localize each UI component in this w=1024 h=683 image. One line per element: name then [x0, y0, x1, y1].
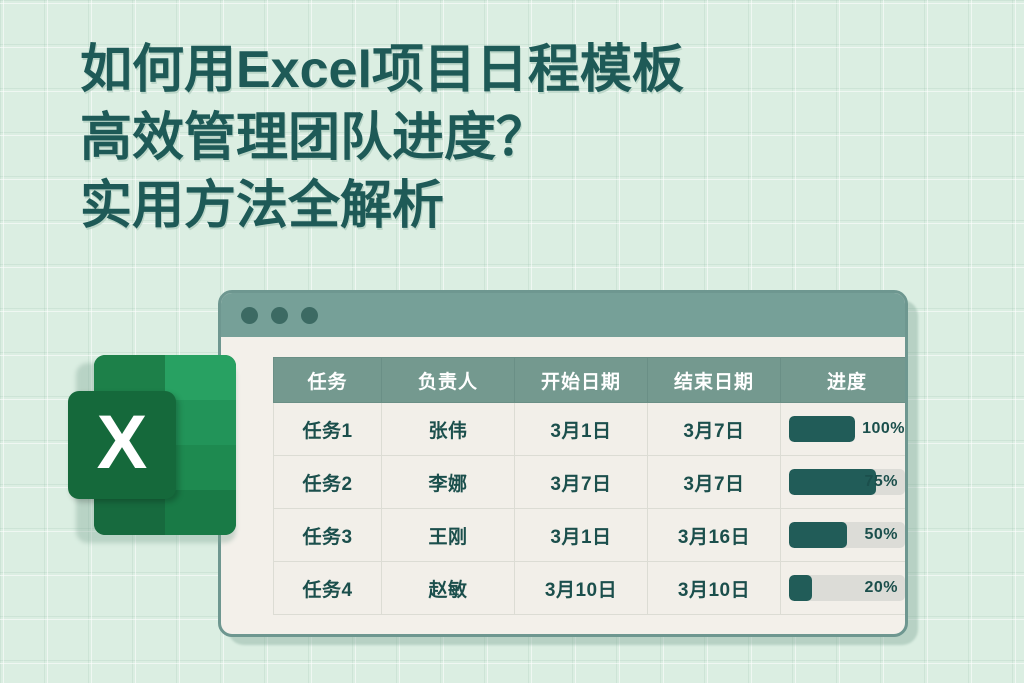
progress-track: 50% — [789, 522, 905, 548]
table-row[interactable]: 任务2李娜3月7日3月7日75% — [274, 456, 909, 509]
cell-start-date: 3月10日 — [515, 562, 648, 615]
window-minimize-dot-icon[interactable] — [271, 307, 288, 324]
excel-logo-tile-2 — [165, 355, 236, 400]
window-close-dot-icon[interactable] — [241, 307, 258, 324]
table-header-row: 任务 负责人 开始日期 结束日期 进度 — [274, 358, 909, 403]
page-title: 如何用Excel项目日程模板 高效管理团队进度？ 实用方法全解析 — [80, 36, 940, 240]
cell-end-date: 3月16日 — [648, 509, 781, 562]
window-body: 任务 负责人 开始日期 结束日期 进度 任务1张伟3月1日3月7日100%任务2… — [221, 337, 905, 635]
headline-line-3: 实用方法全解析 — [80, 172, 940, 240]
excel-logo-tile-8 — [165, 490, 236, 535]
progress-track: 75% — [789, 469, 905, 495]
table-body: 任务1张伟3月1日3月7日100%任务2李娜3月7日3月7日75%任务3王刚3月… — [274, 403, 909, 615]
progress-fill — [789, 416, 855, 442]
cell-start-date: 3月7日 — [515, 456, 648, 509]
excel-logo-letter: X — [97, 405, 148, 481]
progress-track: 20% — [789, 575, 905, 601]
cell-progress: 20% — [781, 562, 909, 615]
progress-bar: 75% — [789, 469, 905, 495]
browser-window-card: 任务 负责人 开始日期 结束日期 进度 任务1张伟3月1日3月7日100%任务2… — [218, 290, 908, 637]
column-header-owner[interactable]: 负责人 — [382, 358, 515, 403]
cell-task: 任务4 — [274, 562, 382, 615]
cell-owner: 王刚 — [382, 509, 515, 562]
progress-label: 50% — [864, 522, 898, 548]
window-title-bar — [221, 293, 905, 337]
cell-owner: 赵敏 — [382, 562, 515, 615]
progress-bar: 20% — [789, 575, 905, 601]
column-header-progress[interactable]: 进度 — [781, 358, 909, 403]
cell-start-date: 3月1日 — [515, 509, 648, 562]
progress-label: 100% — [862, 420, 905, 438]
cell-end-date: 3月10日 — [648, 562, 781, 615]
progress-fill — [789, 469, 876, 495]
window-maximize-dot-icon[interactable] — [301, 307, 318, 324]
column-header-start-date[interactable]: 开始日期 — [515, 358, 648, 403]
headline-line-2: 高效管理团队进度？ — [80, 104, 940, 172]
table-row[interactable]: 任务4赵敏3月10日3月10日20% — [274, 562, 909, 615]
table-row[interactable]: 任务1张伟3月1日3月7日100% — [274, 403, 909, 456]
cell-progress: 100% — [781, 403, 909, 456]
progress-track — [789, 416, 855, 442]
progress-label: 75% — [864, 469, 898, 495]
table-row[interactable]: 任务3王刚3月1日3月16日50% — [274, 509, 909, 562]
cell-owner: 李娜 — [382, 456, 515, 509]
cell-start-date: 3月1日 — [515, 403, 648, 456]
column-header-end-date[interactable]: 结束日期 — [648, 358, 781, 403]
cell-progress: 50% — [781, 509, 909, 562]
cell-progress: 75% — [781, 456, 909, 509]
progress-bar: 100% — [789, 416, 905, 442]
progress-label: 20% — [864, 575, 898, 601]
cell-task: 任务2 — [274, 456, 382, 509]
cell-task: 任务3 — [274, 509, 382, 562]
cell-owner: 张伟 — [382, 403, 515, 456]
cell-task: 任务1 — [274, 403, 382, 456]
progress-fill — [789, 522, 847, 548]
cell-end-date: 3月7日 — [648, 456, 781, 509]
progress-bar: 50% — [789, 522, 905, 548]
progress-fill — [789, 575, 812, 601]
column-header-task[interactable]: 任务 — [274, 358, 382, 403]
excel-logo-badge: X — [68, 391, 176, 499]
cell-end-date: 3月7日 — [648, 403, 781, 456]
excel-logo: X — [68, 355, 244, 545]
project-schedule-table: 任务 负责人 开始日期 结束日期 进度 任务1张伟3月1日3月7日100%任务2… — [273, 357, 908, 615]
headline-line-1: 如何用Excel项目日程模板 — [80, 36, 940, 104]
